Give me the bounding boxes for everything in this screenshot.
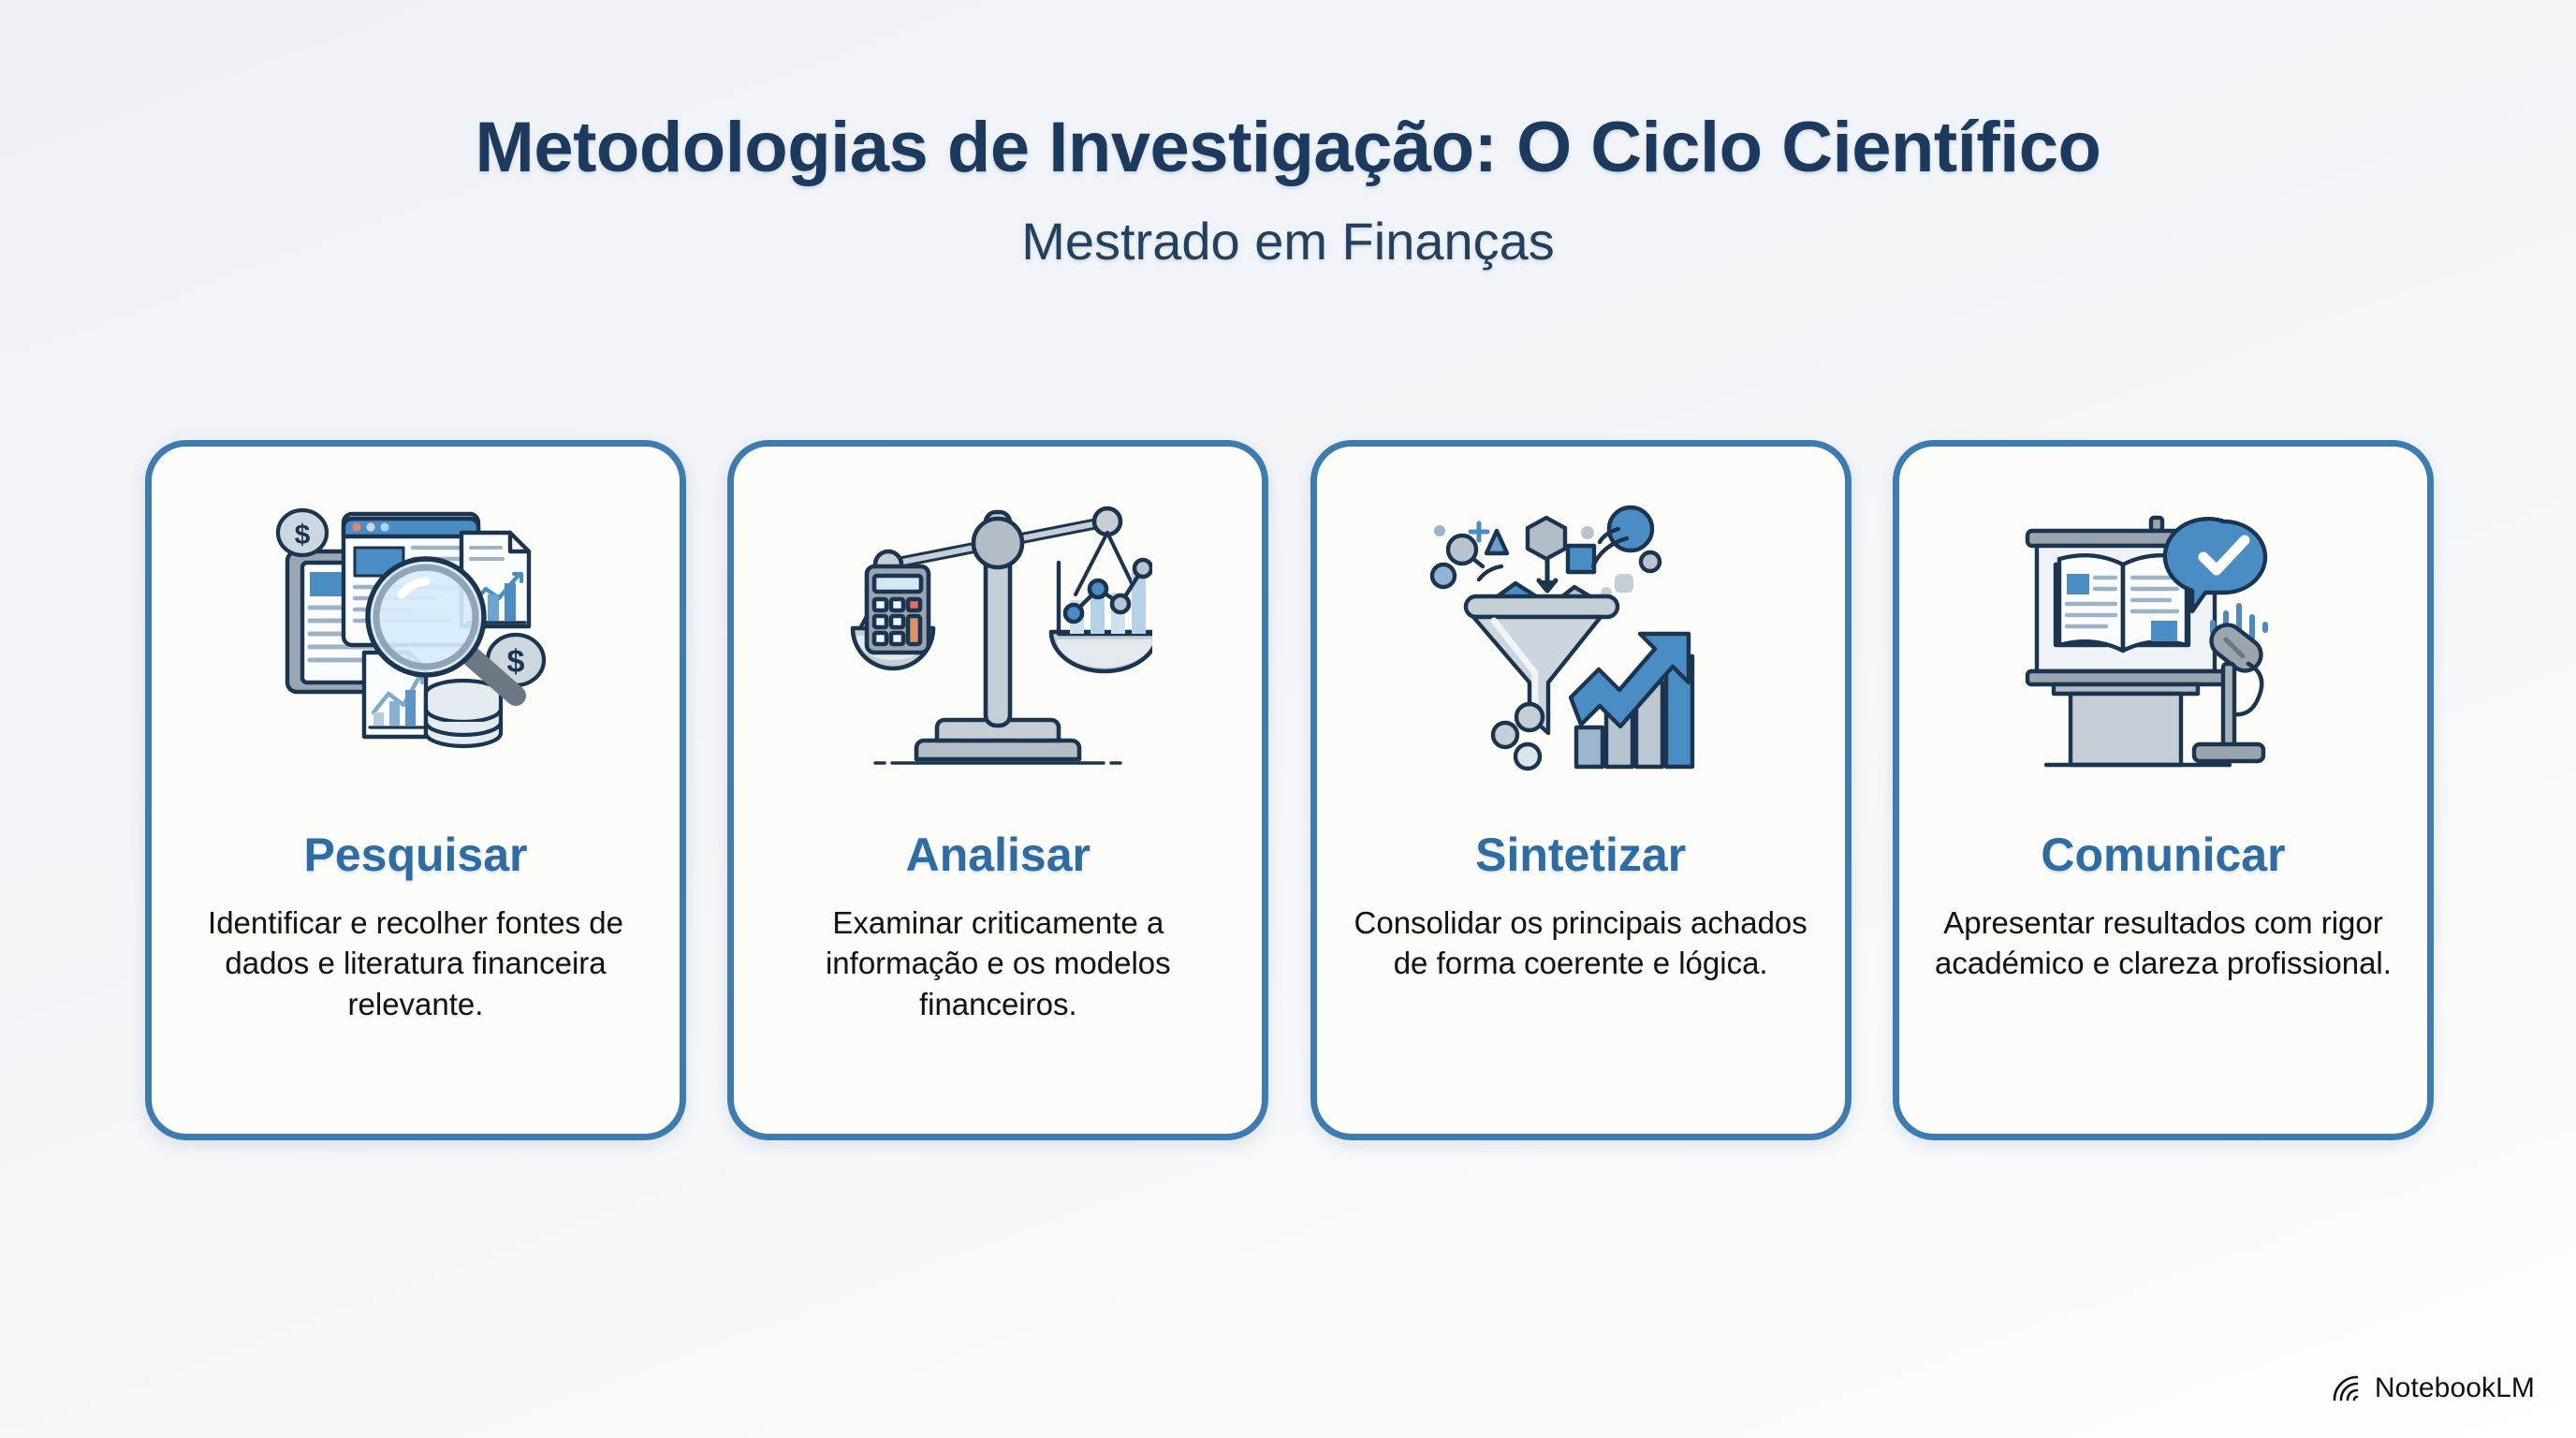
balance-scale-icon (843, 490, 1152, 799)
card-body: Apresentar resultados com rigor académic… (1929, 902, 2397, 984)
card-heading: Comunicar (2041, 830, 2285, 880)
card-pesquisar[interactable]: $ $ Pesquisar Identificar e recolher fon… (145, 440, 686, 1140)
card-sintetizar[interactable]: Sintetizar Consolidar os principais acha… (1310, 440, 1851, 1140)
card-heading: Sintetizar (1475, 830, 1686, 880)
podium-microphone-icon (2009, 490, 2318, 799)
watermark-label: NotebookLM (2375, 1372, 2535, 1404)
card-body: Examinar criticamente a informação e os … (764, 902, 1232, 1025)
process-cards-row: $ $ Pesquisar Identificar e recolher fon… (145, 440, 2434, 1140)
card-comunicar[interactable]: Comunicar Apresentar resultados com rigo… (1893, 440, 2434, 1140)
card-heading: Pesquisar (303, 830, 527, 880)
card-heading: Analisar (906, 830, 1090, 880)
page-subtitle: Mestrado em Finanças (0, 210, 2576, 272)
card-body: Identificar e recolher fontes de dados e… (182, 902, 650, 1025)
card-analisar[interactable]: Analisar Examinar criticamente a informa… (727, 440, 1268, 1140)
magnifier-documents-icon: $ $ (261, 490, 570, 799)
notebooklm-spiral-icon (2332, 1374, 2364, 1402)
funnel-chart-icon (1427, 490, 1735, 799)
header: Metodologias de Investigação: O Ciclo Ci… (0, 110, 2576, 272)
svg-text:$: $ (295, 520, 311, 550)
page-title: Metodologias de Investigação: O Ciclo Ci… (0, 110, 2576, 185)
notebooklm-watermark: NotebookLM (2332, 1372, 2535, 1404)
card-body: Consolidar os principais achados de form… (1347, 902, 1815, 984)
